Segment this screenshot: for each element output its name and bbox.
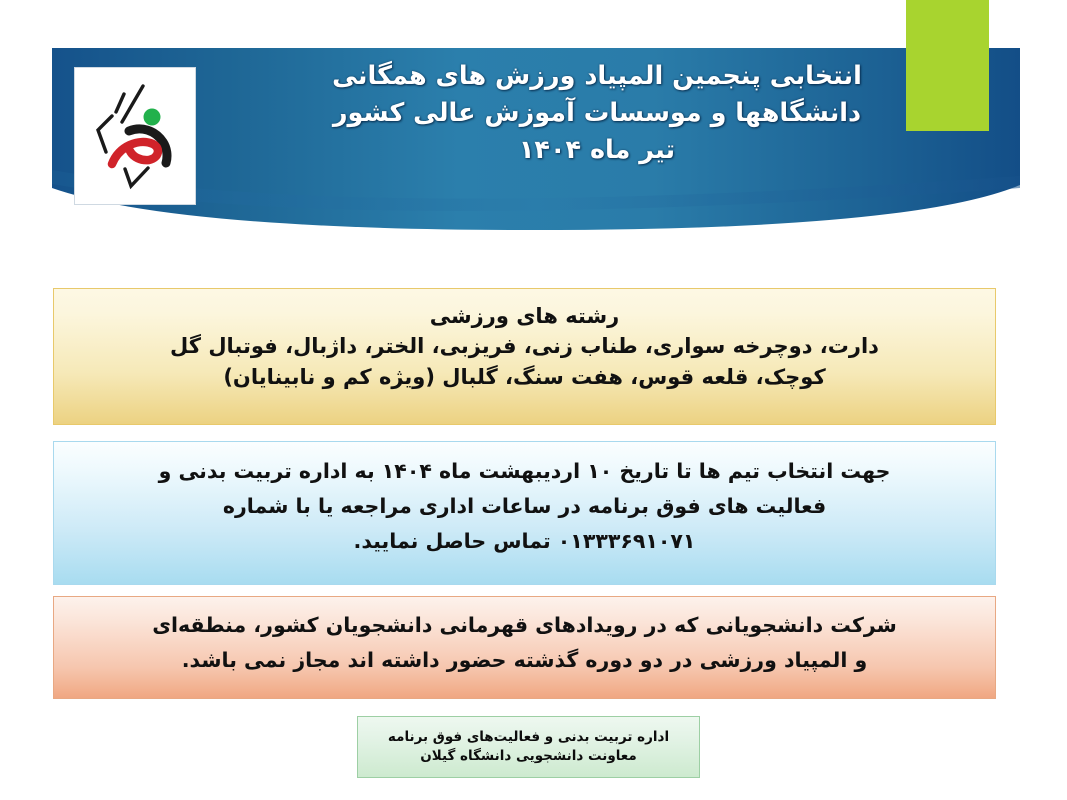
banner-title-line-3: تیر ماه ۱۴۰۴ xyxy=(202,132,992,169)
sports-panel-line-2: کوچک، قلعه قوس، هفت سنگ، گلبال (ویژه کم … xyxy=(54,362,995,393)
deadline-panel-line-2: فعالیت های فوق برنامه در ساعات اداری مرا… xyxy=(54,489,995,524)
footer-line-2: معاونت دانشجویی دانشگاه گیلان xyxy=(358,747,699,766)
title-banner: انتخابی پنجمین المپیاد ورزش های همگانی د… xyxy=(52,48,1020,230)
eligibility-restriction-panel: شرکت دانشجویانی که در رویدادهای قهرمانی … xyxy=(53,596,996,699)
banner-title-line-1: انتخابی پنجمین المپیاد ورزش های همگانی xyxy=(202,58,992,95)
restriction-panel-line-1: شرکت دانشجویانی که در رویدادهای قهرمانی … xyxy=(54,608,995,643)
olympiad-logo xyxy=(74,67,196,205)
header-region: انتخابی پنجمین المپیاد ورزش های همگانی د… xyxy=(0,0,1067,262)
registration-deadline-panel: جهت انتخاب تیم ها تا تاریخ ۱۰ اردیبهشت م… xyxy=(53,441,996,585)
sports-athlete-logo-icon xyxy=(75,68,197,206)
sports-panel-line-1: دارت، دوچرخه سواری، طناب زنی، فریزبی، ال… xyxy=(54,331,995,362)
footer-line-1: اداره تربیت بدنی و فعالیت‌های فوق برنامه xyxy=(358,728,699,747)
restriction-panel-line-2: و المپیاد ورزشی در دو دوره گذشته حضور دا… xyxy=(54,643,995,678)
issuing-office-footer: اداره تربیت بدنی و فعالیت‌های فوق برنامه… xyxy=(357,716,700,778)
deadline-panel-line-1: جهت انتخاب تیم ها تا تاریخ ۱۰ اردیبهشت م… xyxy=(54,454,995,489)
green-accent-tab xyxy=(906,0,989,131)
banner-title-line-2: دانشگاهها و موسسات آموزش عالی کشور xyxy=(202,95,992,132)
sports-disciplines-panel: رشته های ورزشی دارت، دوچرخه سواری، طناب … xyxy=(53,288,996,425)
banner-title: انتخابی پنجمین المپیاد ورزش های همگانی د… xyxy=(202,58,992,169)
deadline-panel-line-3: ۰۱۳۳۳۶۹۱۰۷۱ تماس حاصل نمایید. xyxy=(54,524,995,559)
sports-panel-heading: رشته های ورزشی xyxy=(54,301,995,331)
